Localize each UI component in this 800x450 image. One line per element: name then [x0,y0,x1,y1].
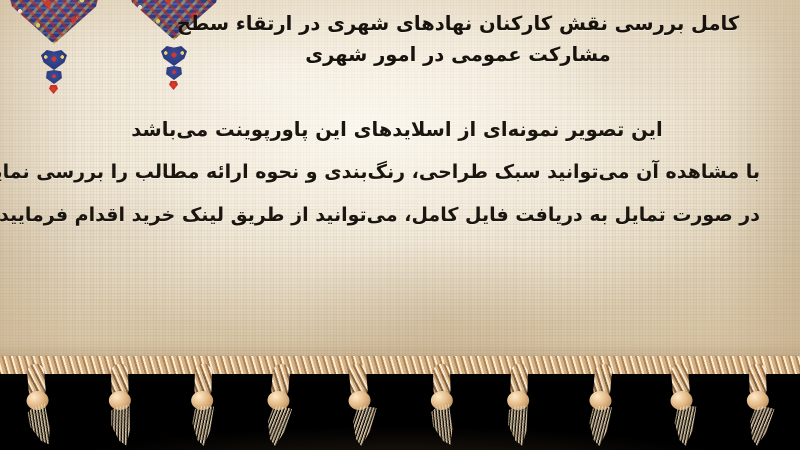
tassel-brush-icon [745,404,775,448]
tassel-brush-icon [428,404,460,448]
tassel-brush-icon [673,405,697,446]
slide-canvas: کامل بررسی نقش کارکنان نهادهای شهری در ا… [0,0,800,450]
slide-title: کامل بررسی نقش کارکنان نهادهای شهری در ا… [158,8,758,70]
tassel-brush-icon [191,406,214,447]
slide-text-layer: کامل بررسی نقش کارکنان نهادهای شهری در ا… [0,0,800,372]
fringe-tassel [20,363,57,449]
fringe-tassel [426,364,458,449]
tassel-brush-icon [108,405,136,448]
slide-body: این تصویر نمونه‌ای از اسلایدهای این پاور… [34,108,760,237]
slide-title-line-2: مشارکت عمومی در امور شهری [158,39,758,70]
tassel-brush-icon [262,404,292,448]
slide-body-line-2: با مشاهده آن می‌توانید سبک طراحی، رنگ‌بن… [34,151,760,194]
tassel-brush-icon [506,405,532,447]
slide-title-line-1: کامل بررسی نقش کارکنان نهادهای شهری در ا… [158,8,758,39]
fringe-tassel [342,363,379,449]
fringe-tassel [582,363,619,449]
slide-body-line-3: در صورت تمایل به دریافت فایل کامل، می‌تو… [34,194,760,237]
fringe-tassel [186,364,218,449]
tassel-brush-icon [587,405,612,447]
fringe-tassel [104,364,136,449]
slide-body-line-1: این تصویر نمونه‌ای از اسلایدهای این پاور… [34,108,760,151]
fringe-tassel [664,363,701,449]
fringe-tassel [742,364,774,449]
tassel-brush-icon [349,404,377,447]
fringe-tassel [260,363,297,449]
tassel-brush-icon [24,403,58,448]
fringe-tassel [502,364,534,449]
